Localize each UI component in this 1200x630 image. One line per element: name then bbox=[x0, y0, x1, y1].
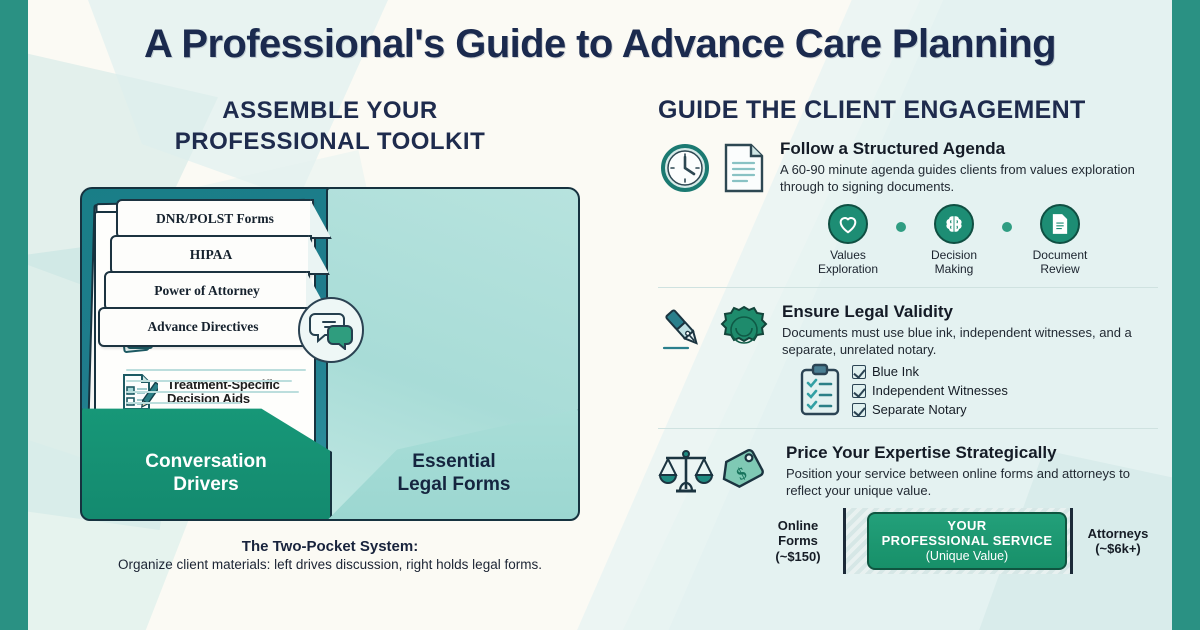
step-connector-dot bbox=[896, 222, 906, 232]
step-label: Values Exploration bbox=[800, 248, 896, 277]
agenda-steps: Values Exploration bbox=[658, 204, 1158, 277]
form-tab[interactable]: Power of Attorney bbox=[104, 271, 310, 311]
document-icon bbox=[1050, 213, 1070, 235]
checklist-item[interactable]: Blue Ink bbox=[852, 364, 1008, 379]
checkbox-icon[interactable] bbox=[852, 365, 866, 379]
pocket-right-label: Essential Legal Forms bbox=[332, 451, 576, 497]
step-circle bbox=[828, 204, 868, 244]
agenda-step: Document Review bbox=[1012, 204, 1108, 277]
form-tab-label: Power of Attorney bbox=[154, 283, 259, 299]
block-title: Follow a Structured Agenda bbox=[780, 139, 1158, 159]
price-low-line1: Online bbox=[778, 518, 818, 533]
price-core-line3: (Unique Value) bbox=[926, 549, 1008, 564]
legal-checklist: Blue Ink Independent Witnesses Separate … bbox=[658, 362, 1158, 418]
form-tab-label: DNR/POLST Forms bbox=[156, 211, 274, 227]
agenda-step: Values Exploration bbox=[800, 204, 896, 277]
checklist-items: Blue Ink Independent Witnesses Separate … bbox=[852, 362, 1008, 417]
block-description: Position your service between online for… bbox=[786, 466, 1158, 500]
checklist-label: Blue Ink bbox=[872, 364, 919, 379]
left-column: ASSEMBLE YOUR PROFESSIONAL TOOLKIT bbox=[40, 96, 620, 572]
block-icons bbox=[658, 139, 768, 195]
price-high-label: Attorneys (~$6k+) bbox=[1081, 526, 1155, 557]
price-core-line1: YOUR bbox=[947, 519, 986, 534]
price-low-line2: Forms bbox=[778, 533, 818, 548]
speech-bubbles-icon bbox=[309, 310, 353, 350]
form-tab[interactable]: HIPAA bbox=[110, 235, 312, 275]
agenda-step: Decision Making bbox=[906, 204, 1002, 277]
wax-seal-icon bbox=[718, 304, 770, 356]
block-description: A 60-90 minute agenda guides clients fro… bbox=[780, 162, 1158, 196]
left-heading-line1: ASSEMBLE YOUR bbox=[222, 97, 437, 124]
price-high-amount: (~$6k+) bbox=[1095, 541, 1141, 556]
right-section-heading: GUIDE THE CLIENT ENGAGEMENT bbox=[658, 96, 1158, 125]
pocket-right-line1: Essential bbox=[412, 451, 495, 472]
speech-bubbles-badge bbox=[298, 297, 364, 363]
document-icon bbox=[720, 141, 768, 195]
price-core-line2: PROFESSIONAL SERVICE bbox=[882, 534, 1053, 549]
pocket-left-line1: Conversation bbox=[145, 451, 266, 472]
legal-forms-tabs: DNR/POLST Forms HIPAA Power of Attorney … bbox=[98, 199, 316, 343]
block-icons: $ bbox=[658, 443, 774, 499]
pocket-left-label: Conversation Drivers bbox=[86, 451, 326, 497]
step-label-line1: Document bbox=[1033, 248, 1088, 262]
clock-icon bbox=[658, 141, 712, 195]
caption-title: The Two-Pocket System: bbox=[40, 538, 620, 555]
right-column: GUIDE THE CLIENT ENGAGEMENT bbox=[658, 96, 1158, 584]
caption-subtitle: Organize client materials: left drives d… bbox=[40, 557, 620, 572]
form-tab-label: Advance Directives bbox=[147, 319, 258, 335]
folder-caption: The Two-Pocket System: Organize client m… bbox=[40, 538, 620, 572]
scales-icon bbox=[658, 445, 714, 499]
left-section-heading: ASSEMBLE YOUR PROFESSIONAL TOOLKIT bbox=[40, 96, 620, 157]
checklist-item[interactable]: Separate Notary bbox=[852, 402, 1008, 417]
block-title: Ensure Legal Validity bbox=[782, 302, 1158, 322]
step-label-line2: Exploration bbox=[818, 262, 878, 276]
engagement-block-agenda: Follow a Structured Agenda A 60-90 minut… bbox=[658, 125, 1158, 287]
step-circle bbox=[1040, 204, 1080, 244]
pocket-left-line2: Drivers bbox=[173, 474, 239, 495]
form-tab-label: HIPAA bbox=[190, 247, 233, 263]
price-tag-icon: $ bbox=[722, 445, 774, 499]
page-title: A Professional's Guide to Advance Care P… bbox=[28, 22, 1172, 67]
left-heading-line2: PROFESSIONAL TOOLKIT bbox=[40, 127, 620, 158]
step-label-line1: Decision bbox=[931, 248, 977, 262]
heart-icon bbox=[837, 213, 859, 235]
engagement-block-pricing: $ Price Your Expertise Strategically Pos… bbox=[658, 429, 1158, 584]
block-description: Documents must use blue ink, independent… bbox=[782, 325, 1158, 359]
fountain-pen-icon bbox=[658, 304, 710, 356]
step-label-line1: Values bbox=[830, 248, 866, 262]
step-connector-dot bbox=[1002, 222, 1012, 232]
engagement-block-legal: Ensure Legal Validity Documents must use… bbox=[658, 288, 1158, 429]
infographic-poster: A Professional's Guide to Advance Care P… bbox=[0, 0, 1200, 630]
price-high-line1: Attorneys bbox=[1088, 526, 1149, 541]
block-icons bbox=[658, 302, 770, 356]
pocket-right-line2: Legal Forms bbox=[398, 474, 511, 495]
step-circle bbox=[934, 204, 974, 244]
form-body-lines bbox=[126, 369, 306, 413]
form-tab[interactable]: Advance Directives bbox=[98, 307, 308, 347]
step-label: Document Review bbox=[1012, 248, 1108, 277]
two-pocket-folder: Agenda &Checklists Values ExplorationWor… bbox=[80, 179, 580, 524]
price-your-service-bar: YOUR PROFESSIONAL SERVICE (Unique Value) bbox=[867, 512, 1067, 570]
checkbox-icon[interactable] bbox=[852, 384, 866, 398]
block-title: Price Your Expertise Strategically bbox=[786, 443, 1158, 463]
step-label-line2: Review bbox=[1040, 262, 1079, 276]
checkbox-icon[interactable] bbox=[852, 403, 866, 417]
poster-canvas: A Professional's Guide to Advance Care P… bbox=[28, 0, 1172, 630]
form-tab[interactable]: DNR/POLST Forms bbox=[116, 199, 314, 239]
price-low-label: Online Forms (~$150) bbox=[761, 518, 835, 565]
step-label: Decision Making bbox=[906, 248, 1002, 277]
price-positioning-scale: Online Forms (~$150) YOUR PROFESSIONAL S… bbox=[658, 508, 1158, 574]
checklist-label: Independent Witnesses bbox=[872, 383, 1008, 398]
clipboard-check-icon bbox=[798, 362, 842, 418]
step-label-line2: Making bbox=[935, 262, 974, 276]
checklist-item[interactable]: Independent Witnesses bbox=[852, 383, 1008, 398]
price-low-amount: (~$150) bbox=[775, 549, 820, 564]
checklist-label: Separate Notary bbox=[872, 402, 967, 417]
brain-icon bbox=[943, 213, 965, 235]
price-range-track: YOUR PROFESSIONAL SERVICE (Unique Value) bbox=[843, 508, 1073, 574]
